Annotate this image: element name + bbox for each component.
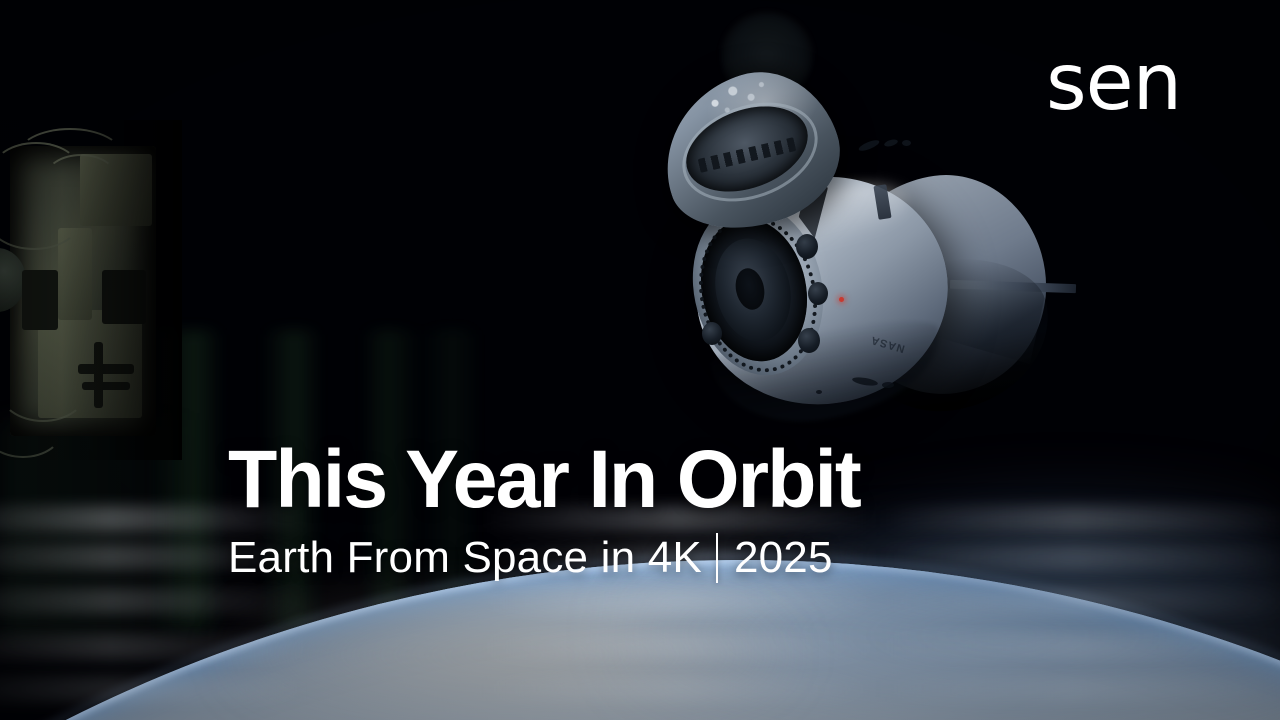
subtitle-row: Earth From Space in 4K 2025 <box>228 533 1128 583</box>
subtitle-left: Earth From Space in 4K <box>228 534 702 582</box>
subtitle-year: 2025 <box>734 534 833 582</box>
sen-logo[interactable]: sen <box>1046 44 1181 122</box>
video-title-card: NASA sen This Year In Orbit Earth From S… <box>0 0 1280 720</box>
title-block: This Year In Orbit Earth From Space in 4… <box>228 438 1128 583</box>
subtitle-separator <box>716 533 718 583</box>
page-title: This Year In Orbit <box>228 438 1115 522</box>
